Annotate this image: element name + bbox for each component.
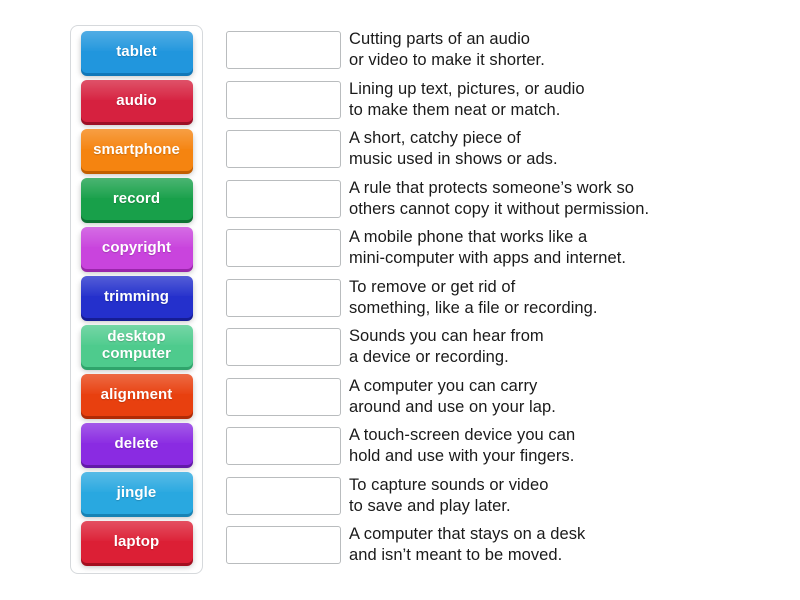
definition-line: around and use on your lap.: [349, 397, 769, 418]
definition-line: Cutting parts of an audio: [349, 29, 769, 50]
definition-item: A computer you can carryaround and use o…: [349, 376, 769, 426]
definition-line: others cannot copy it without permission…: [349, 199, 769, 220]
word-tile[interactable]: jingle: [81, 472, 193, 514]
definition-line: hold and use with your fingers.: [349, 446, 769, 467]
word-tile-label: audio: [116, 93, 157, 109]
word-tile[interactable]: trimming: [81, 276, 193, 318]
word-tiles-panel: tabletaudiosmartphonerecordcopyrighttrim…: [70, 25, 203, 574]
word-tile-label: desktop: [107, 328, 165, 345]
word-tile-label: computer: [102, 345, 171, 362]
definition-item: A short, catchy piece ofmusic used in sh…: [349, 128, 769, 178]
definition-item: Lining up text, pictures, or audioto mak…: [349, 79, 769, 129]
definition-item: A touch-screen device you canhold and us…: [349, 425, 769, 475]
definition-line: A rule that protects someone’s work so: [349, 178, 769, 199]
word-tile-label: alignment: [101, 387, 173, 403]
word-tile[interactable]: delete: [81, 423, 193, 465]
word-tile-label: smartphone: [93, 142, 180, 158]
definition-line: Sounds you can hear from: [349, 326, 769, 347]
word-tile-label: laptop: [114, 534, 160, 550]
definition-line: or video to make it shorter.: [349, 50, 769, 71]
word-tile[interactable]: laptop: [81, 521, 193, 563]
drop-target-box[interactable]: [226, 477, 341, 515]
definition-line: To capture sounds or video: [349, 475, 769, 496]
word-tile-label: copyright: [102, 240, 171, 256]
definition-line: a device or recording.: [349, 347, 769, 368]
word-tile-label: tablet: [116, 44, 157, 60]
word-tile[interactable]: audio: [81, 80, 193, 122]
definition-line: A touch-screen device you can: [349, 425, 769, 446]
definition-line: to save and play later.: [349, 496, 769, 517]
definition-line: mini-computer with apps and internet.: [349, 248, 769, 269]
definition-line: A short, catchy piece of: [349, 128, 769, 149]
word-tile-label: jingle: [117, 485, 157, 501]
drop-target-box[interactable]: [226, 180, 341, 218]
definition-line: music used in shows or ads.: [349, 149, 769, 170]
definition-item: A mobile phone that works like amini-com…: [349, 227, 769, 277]
word-tile-label: record: [113, 191, 160, 207]
drop-target-box[interactable]: [226, 526, 341, 564]
drop-target-box[interactable]: [226, 427, 341, 465]
word-tile-label: delete: [115, 436, 159, 452]
definition-line: To remove or get rid of: [349, 277, 769, 298]
definition-line: and isn’t meant to be moved.: [349, 545, 769, 566]
activity-stage: tabletaudiosmartphonerecordcopyrighttrim…: [0, 0, 800, 600]
word-tile[interactable]: record: [81, 178, 193, 220]
definition-line: to make them neat or match.: [349, 100, 769, 121]
definition-column: Cutting parts of an audioor video to mak…: [349, 29, 769, 574]
definition-line: something, like a file or recording.: [349, 298, 769, 319]
word-tile-label: trimming: [104, 289, 169, 305]
definition-item: Sounds you can hear froma device or reco…: [349, 326, 769, 376]
word-tile[interactable]: smartphone: [81, 129, 193, 171]
definition-line: Lining up text, pictures, or audio: [349, 79, 769, 100]
drop-target-column: [226, 31, 341, 576]
drop-target-box[interactable]: [226, 229, 341, 267]
definition-line: A computer that stays on a desk: [349, 524, 769, 545]
word-tile[interactable]: copyright: [81, 227, 193, 269]
word-tile[interactable]: alignment: [81, 374, 193, 416]
definition-line: A mobile phone that works like a: [349, 227, 769, 248]
drop-target-box[interactable]: [226, 279, 341, 317]
definition-item: To capture sounds or videoto save and pl…: [349, 475, 769, 525]
drop-target-box[interactable]: [226, 378, 341, 416]
definition-line: A computer you can carry: [349, 376, 769, 397]
definition-item: A rule that protects someone’s work soot…: [349, 178, 769, 228]
drop-target-box[interactable]: [226, 31, 341, 69]
definition-item: A computer that stays on a deskand isn’t…: [349, 524, 769, 574]
definition-item: Cutting parts of an audioor video to mak…: [349, 29, 769, 79]
drop-target-box[interactable]: [226, 130, 341, 168]
word-tile[interactable]: tablet: [81, 31, 193, 73]
word-tile[interactable]: desktopcomputer: [81, 325, 193, 367]
drop-target-box[interactable]: [226, 81, 341, 119]
drop-target-box[interactable]: [226, 328, 341, 366]
definition-item: To remove or get rid ofsomething, like a…: [349, 277, 769, 327]
